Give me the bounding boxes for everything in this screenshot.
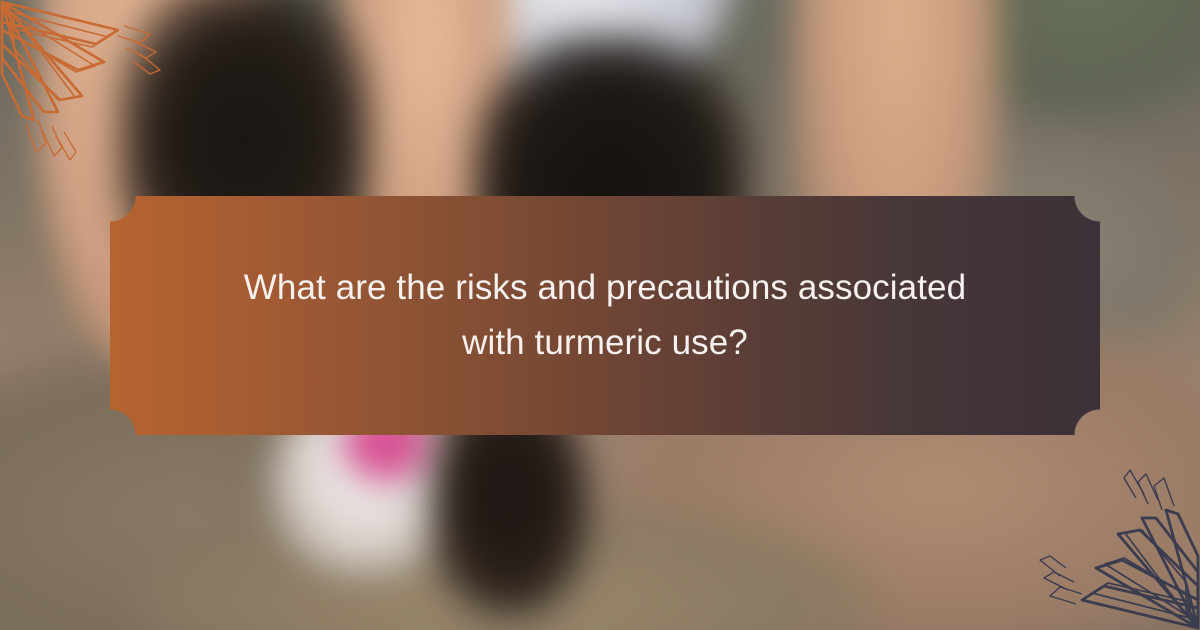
question-title: What are the risks and precautions assoc…	[205, 261, 1005, 370]
question-banner: What are the risks and precautions assoc…	[110, 196, 1100, 435]
card-canvas: What are the risks and precautions assoc…	[0, 0, 1200, 630]
